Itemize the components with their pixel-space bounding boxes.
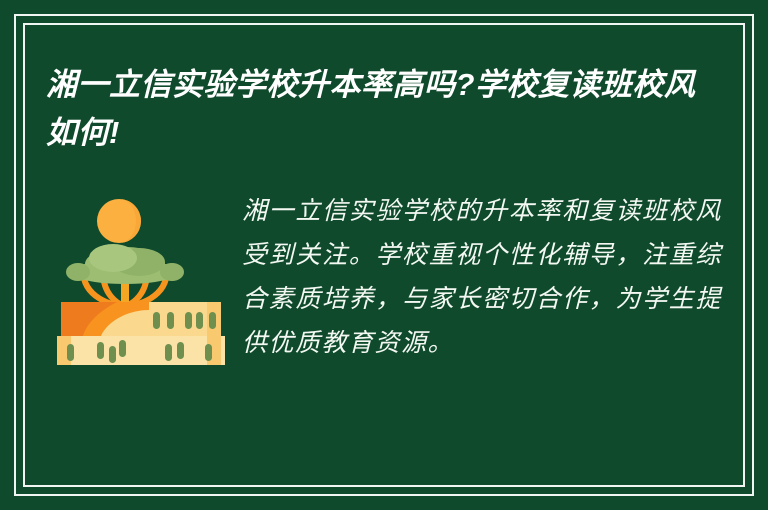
sun-icon (97, 199, 141, 243)
content-row: 湘一立信实验学校的升本率和复读班校风受到关注。学校重视个性化辅导，注重综合素质培… (46, 190, 722, 366)
body-paragraph: 湘一立信实验学校的升本率和复读班校风受到关注。学校重视个性化辅导，注重综合素质培… (242, 190, 722, 366)
campus-building (57, 302, 225, 365)
page-title: 湘一立信实验学校升本率高吗?学校复读班校风如何! (46, 61, 706, 157)
school-campus-illustration (57, 190, 225, 365)
poster-canvas: 湘一立信实验学校升本率高吗?学校复读班校风如何! (0, 0, 768, 510)
